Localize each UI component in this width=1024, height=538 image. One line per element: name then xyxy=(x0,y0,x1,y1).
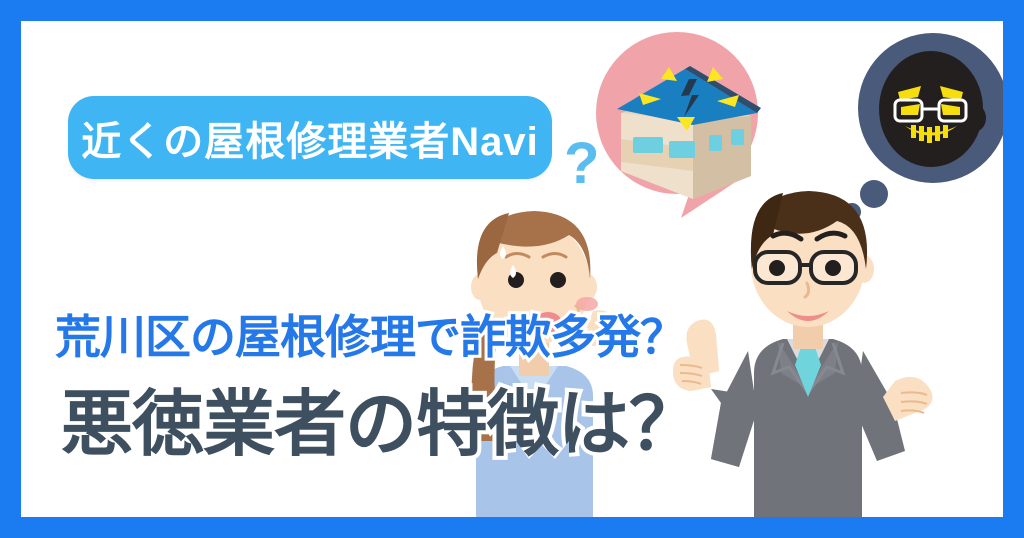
villain-thought-bubble-icon xyxy=(843,33,1003,221)
banner-inner-card: 近くの屋根修理業者Navi ? 荒川区の屋根修理で詐欺多発？ 悪徳業者の特徴は？ xyxy=(21,21,1003,517)
banner-subtitle: 荒川区の屋根修理で詐欺多発？ xyxy=(55,301,685,367)
banner-canvas: 近くの屋根修理業者Navi ? 荒川区の屋根修理で詐欺多発？ 悪徳業者の特徴は？ xyxy=(0,0,1024,538)
advisor-man-icon xyxy=(673,191,933,517)
banner-title: 悪徳業者の特徴は？ xyxy=(61,365,700,470)
damaged-house-speech-bubble-icon xyxy=(596,32,761,218)
